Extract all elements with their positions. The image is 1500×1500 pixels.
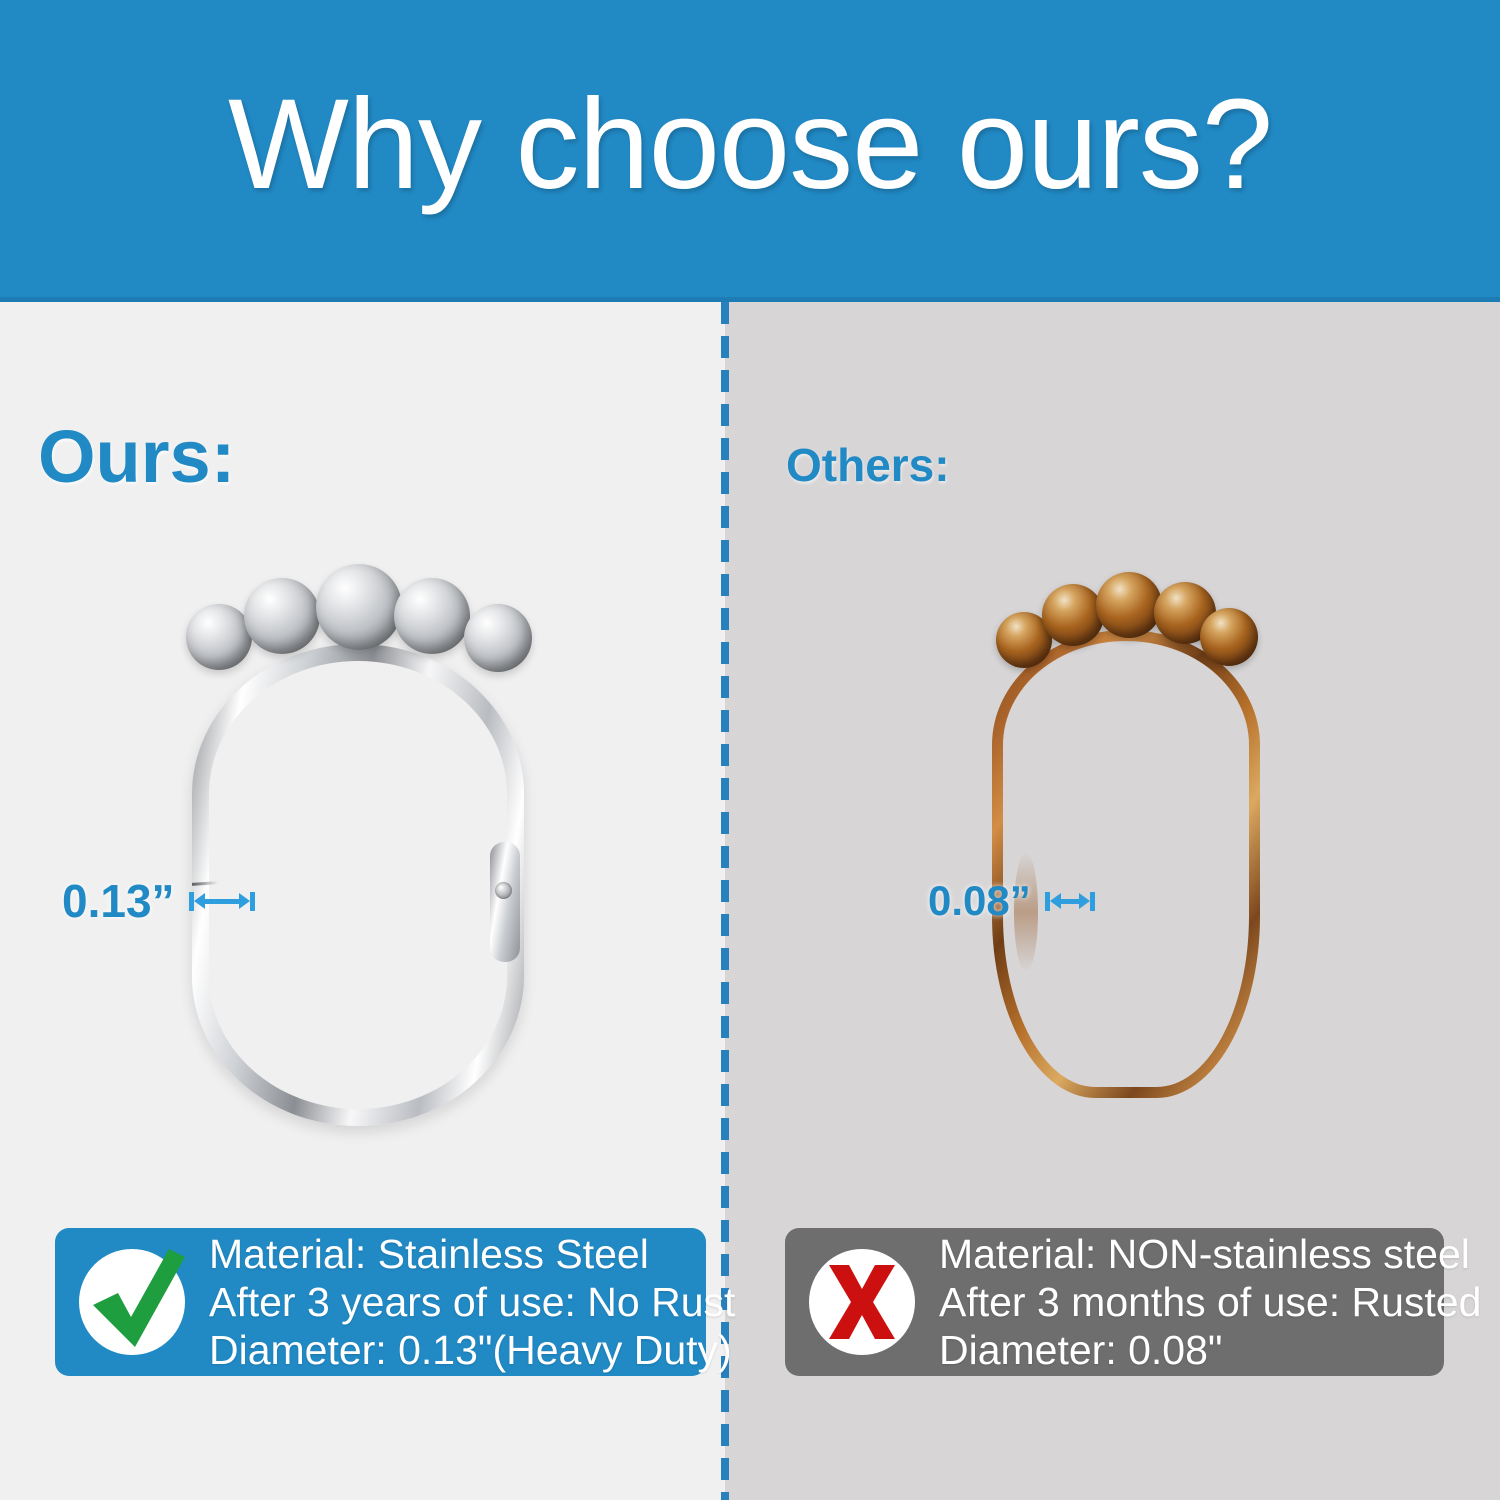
badge-line-material: Material: Stainless Steel [209, 1230, 735, 1278]
arrow-bar-icon [1061, 899, 1079, 904]
green-check-icon [73, 1243, 191, 1361]
arrow-cap-right-icon [250, 892, 255, 911]
dimension-callout-others: 0.08” [928, 880, 1095, 922]
badge-line-material: Material: NON-stainless steel [939, 1230, 1481, 1278]
info-badge-others: Material: NON-stainless steel After 3 mo… [785, 1228, 1444, 1376]
badge-line-diameter: Diameter: 0.13"(Heavy Duty) [209, 1326, 735, 1374]
panel-label-ours: Ours: [38, 420, 235, 494]
page-header: Why choose ours? [0, 0, 1500, 302]
dimension-callout-ours: 0.13” [62, 878, 255, 924]
x-glyph-icon [803, 1243, 921, 1361]
info-badge-ours: Material: Stainless Steel After 3 years … [55, 1228, 706, 1376]
roller-bead-rusted [1096, 572, 1162, 638]
product-image-others [962, 552, 1292, 1112]
dimension-arrow-icon [1045, 891, 1095, 911]
ring-clasp-icon [490, 842, 520, 962]
roller-bead [394, 578, 470, 654]
panel-label-others: Others: [786, 442, 950, 488]
dimension-value-ours: 0.13” [62, 878, 175, 924]
arrow-head-left-icon [1050, 893, 1061, 909]
dimension-value-others: 0.08” [928, 880, 1031, 922]
roller-bead [464, 604, 532, 672]
info-badge-text-others: Material: NON-stainless steel After 3 mo… [939, 1230, 1481, 1374]
badge-line-durability: After 3 years of use: No Rust [209, 1278, 735, 1326]
arrow-head-right-icon [1079, 893, 1090, 909]
red-x-icon [803, 1243, 921, 1361]
ring-clasp-dot-icon [495, 882, 512, 899]
roller-bead [244, 578, 320, 654]
arrow-cap-right-icon [1090, 892, 1095, 911]
roller-bead-rusted [1200, 608, 1258, 666]
roller-bead [316, 564, 402, 650]
arrow-head-right-icon [239, 893, 250, 909]
roller-bead [186, 604, 252, 670]
page-title: Why choose ours? [228, 81, 1272, 209]
check-glyph-icon [73, 1243, 191, 1361]
info-badge-text-ours: Material: Stainless Steel After 3 years … [209, 1230, 735, 1374]
dimension-arrow-icon [189, 891, 255, 911]
product-image-ours [168, 552, 548, 1132]
roller-bead-rusted [1042, 584, 1104, 646]
badge-line-durability: After 3 months of use: Rusted [939, 1278, 1481, 1326]
arrow-head-left-icon [194, 893, 205, 909]
arrow-bar-icon [205, 899, 239, 904]
badge-line-diameter: Diameter: 0.08" [939, 1326, 1481, 1374]
